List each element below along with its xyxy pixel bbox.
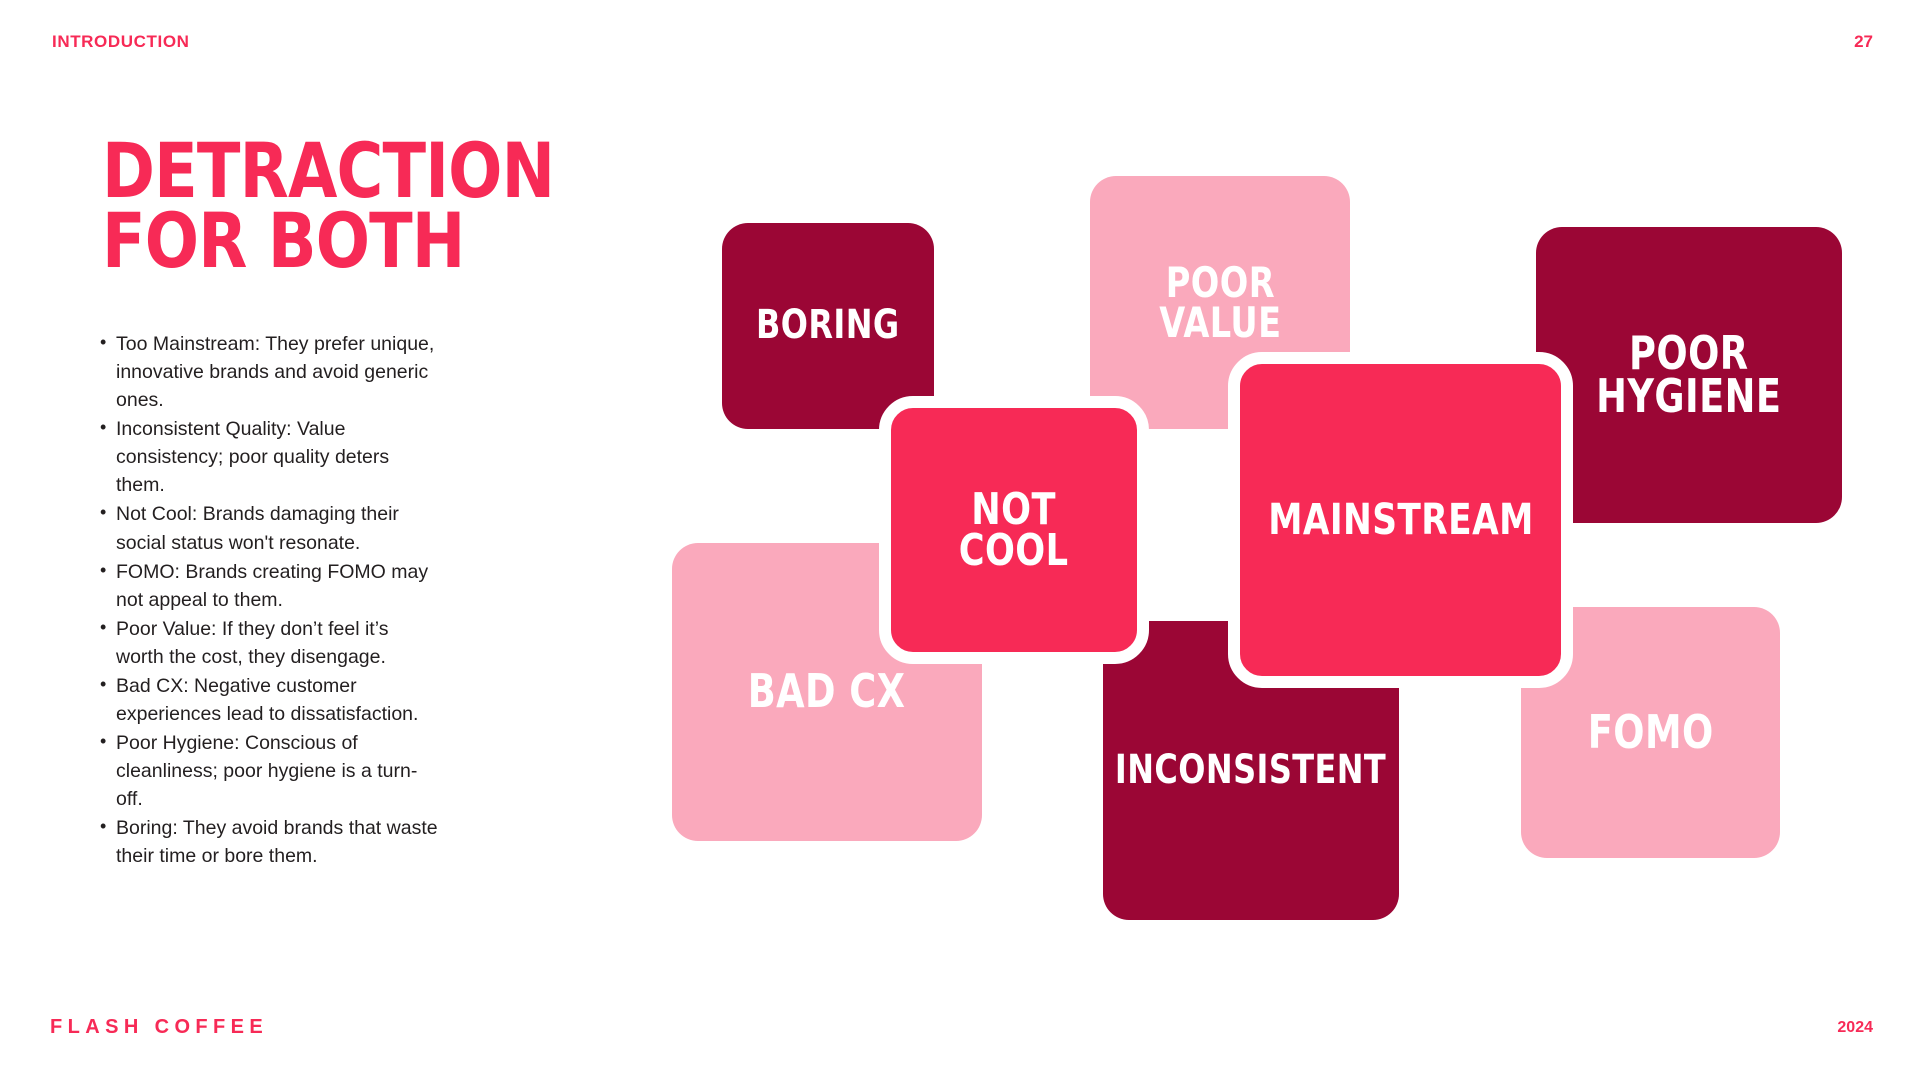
card-label: BAD CX bbox=[748, 670, 906, 713]
card-label: MAINSTREAM bbox=[1268, 500, 1534, 540]
card-label: NOT COOL bbox=[959, 489, 1069, 572]
card-not-cool[interactable]: NOT COOL bbox=[879, 396, 1149, 664]
card-cluster: BORINGPOOR VALUEPOOR HYGIENEBAD CXFOMOIN… bbox=[0, 0, 1921, 1081]
card-label: POOR VALUE bbox=[1159, 263, 1281, 342]
card-label: INCONSISTENT bbox=[1115, 752, 1386, 790]
card-label: POOR HYGIENE bbox=[1596, 332, 1781, 418]
footer-year: 2024 bbox=[1837, 1019, 1873, 1037]
card-poor-hygiene[interactable]: POOR HYGIENE bbox=[1536, 227, 1842, 523]
card-label: BORING bbox=[756, 307, 900, 345]
slide: INTRODUCTION 27 DETRACTION FOR BOTH •Too… bbox=[0, 0, 1921, 1081]
card-mainstream[interactable]: MAINSTREAM bbox=[1228, 352, 1573, 688]
brand-wordmark: FLASH COFFEE bbox=[50, 1016, 268, 1039]
card-label: FOMO bbox=[1588, 711, 1714, 754]
